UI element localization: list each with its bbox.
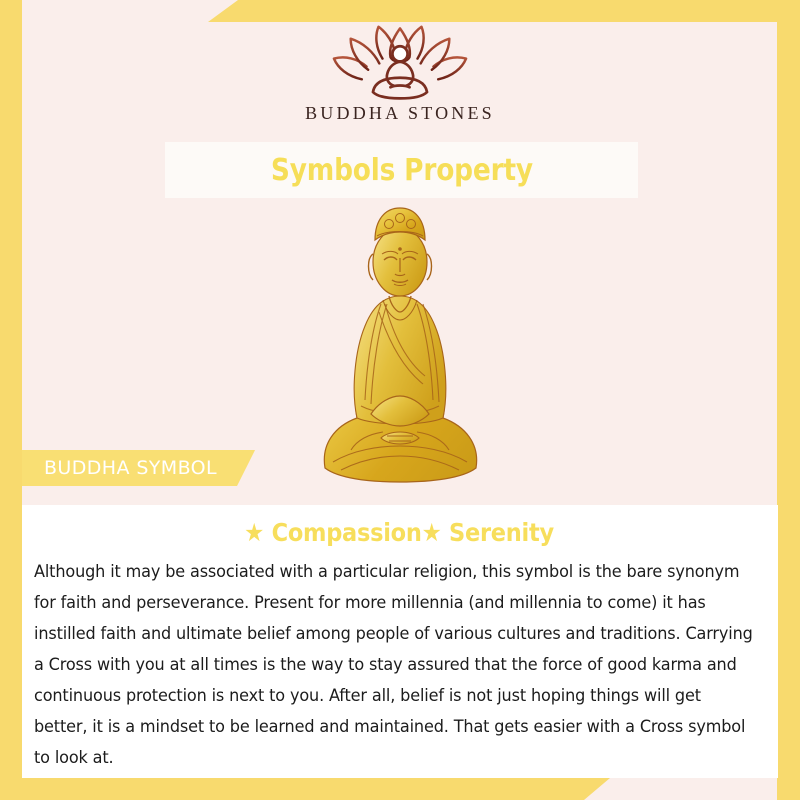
lotus-meditation-figure-icon <box>320 22 480 100</box>
product-info-card: BUDDHA STONES Symbols Property <box>0 0 800 800</box>
brand-name: BUDDHA STONES <box>305 103 495 124</box>
attributes-heading: ★ Compassion★ Serenity <box>71 518 728 547</box>
page-title: Symbols Property <box>270 153 532 188</box>
category-label: BUDDHA SYMBOL <box>44 457 217 479</box>
title-banner: Symbols Property <box>165 142 638 198</box>
hero-image <box>0 200 800 490</box>
seated-buddha-statue-icon <box>313 200 488 488</box>
brand-logo: BUDDHA STONES <box>0 22 800 137</box>
description-panel: ★ Compassion★ Serenity Although it may b… <box>22 505 778 778</box>
top-accent-band <box>208 0 800 22</box>
bottom-accent-band <box>0 778 610 800</box>
description-paragraph: Although it may be associated with a par… <box>34 557 758 774</box>
category-ribbon: BUDDHA SYMBOL <box>22 450 255 486</box>
